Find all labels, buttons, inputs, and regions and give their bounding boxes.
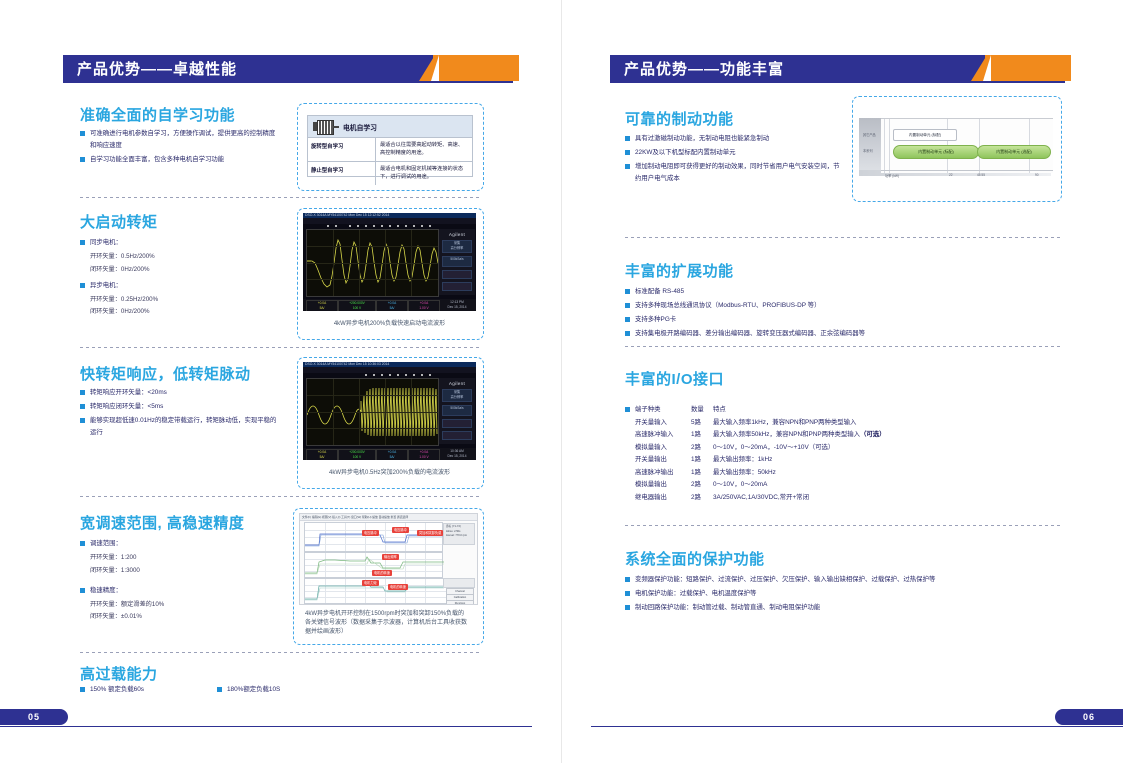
motor-icon [313, 120, 339, 133]
section-heading-start-torque: 大启动转矩 [80, 211, 158, 232]
io-row-feature: 3A/250VAC,1A/30VDC,常开+常闭 [713, 492, 809, 504]
right-page-banner: 产品优势——功能丰富 [610, 55, 1065, 81]
banner-orange-slant [985, 55, 1071, 81]
table-row: 开关量输出 1路 最大输出频率：1kHz [635, 454, 965, 466]
motor-self-learning-table: 电机自学习 旋转型自学习 最适合以往需要高起动转矩、高速、高控制精度的用途。 静… [307, 115, 473, 177]
io-row-qty: 1路 [691, 454, 713, 466]
annotation-tag: 输出频率 [382, 554, 399, 560]
bullets-start-torque: 同步电机： 开环矢量：0.5Hz/200% 闭环矢量：0Hz/200% 异步电机… [80, 237, 280, 319]
brake-bar-optional: 内置制动单元 (选配) [977, 145, 1051, 159]
section-separator [80, 347, 482, 348]
page-number-value: 05 [28, 712, 40, 722]
io-row-feature-bold: （可选） [860, 429, 886, 441]
section-heading-braking: 可靠的制动功能 [625, 108, 734, 129]
io-row-feature: 最大输入频率1kHz，兼容NPN和PNP两种类型输入 [713, 417, 856, 429]
io-row-qty: 2路 [691, 442, 713, 454]
sub-line: 闭环矢量：±0.01% [90, 611, 280, 622]
io-header-qty: 数量 [691, 404, 713, 416]
bullet-square-icon [80, 240, 85, 245]
table-row: 旋转型自学习 最适合以往需要高起动转矩、高速、高控制精度的用途。 [308, 138, 472, 162]
agilent-brand-label: Agilent [439, 229, 475, 237]
scope-waveform-grid [306, 229, 439, 297]
chart-cursor-info: 游标 (Y1-Y2) Δtime: 2.50s ΔLevel: 770.0 rp… [443, 523, 475, 545]
io-row-type: 开关量输出 [635, 454, 691, 466]
section-separator [625, 525, 1060, 526]
list-item: 支持多种PG卡 [625, 314, 955, 326]
sub-line: 闭环矢量：1:3000 [90, 565, 280, 576]
bullets-protection: 变频器保护功能：短路保护、过流保护、过压保护、欠压保护、输入输出缺相保护、过载保… [625, 574, 1055, 616]
io-row-qty: 1路 [691, 467, 713, 479]
bullet-square-icon [625, 605, 630, 610]
left-footer-line [0, 726, 532, 728]
bullets-expansion: 标准配备 RS-485 支持多种现场总线通讯协议（Modbus-RTU、PROF… [625, 286, 955, 342]
io-row-qty: 5路 [691, 417, 713, 429]
left-label-series: 本系列 [863, 148, 873, 153]
annotation-tag: 电机的转速 [372, 570, 392, 576]
list-item: 同步电机： [80, 237, 280, 249]
io-row-qty: 2路 [691, 479, 713, 491]
page-number-right: 06 [1055, 709, 1123, 725]
left-label-other: 其它产品 [863, 132, 876, 137]
figure-caption-3: 4kW异步电机开环控制在1500rpm时突加和突卸150%负载的各关键信号波形（… [293, 610, 482, 637]
bullets-speed-range: 调速范围： 开环矢量：1:200 闭环矢量：1:3000 稳速精度： 开环矢量：… [80, 538, 280, 624]
list-item: 转矩响应闭环矢量：<5ms [80, 401, 280, 413]
list-item: 转矩响应开环矢量：<20ms [80, 387, 280, 399]
row-desc: 最适合以往需要高起动转矩、高速、高控制精度的用途。 [376, 138, 472, 161]
motor-table-header: 电机自学习 [308, 116, 472, 138]
io-row-qty: 2路 [691, 492, 713, 504]
page-left: 产品优势——卓越性能 准确全面的自学习功能 可准确进行电机参数自学习，方便操作调… [0, 0, 562, 763]
chart-panel-1 [304, 522, 443, 552]
scope-waveform-grid [306, 378, 439, 446]
list-item: 180%额定负载10S [217, 684, 347, 696]
bullet-square-icon [80, 390, 85, 395]
bullet-square-icon [625, 303, 630, 308]
brake-bar-other: 内置制动单元 (标配) [893, 129, 957, 141]
right-banner-underline [610, 81, 1065, 83]
list-item: 支持多种现场总线通讯协议（Modbus-RTU、PROFIBUS-DP 等） [625, 300, 955, 312]
bullet-square-icon [625, 289, 630, 294]
list-item: 调速范围： [80, 538, 280, 550]
chart-legend-box [443, 578, 475, 588]
bullet-square-icon [625, 331, 630, 336]
section-heading-overload: 高过载能力 [80, 663, 158, 684]
bullet-square-icon [625, 317, 630, 322]
section-separator [80, 197, 482, 198]
brake-unit-diagram: 内置制动单元 (标配) 内置制动单元 (标配) 内置制动单元 (选配) 其它产品… [859, 118, 1053, 183]
section-separator [80, 652, 482, 653]
motor-table-title: 电机自学习 [343, 122, 377, 132]
banner-orange-slant [433, 55, 519, 81]
oscilloscope-image-1: DSO-X 3014A MY54100742 Mon Dec 15 12:12:… [303, 213, 476, 311]
io-row-type: 开关量输入 [635, 417, 691, 429]
io-rows: 开关量输入 5路 最大输入频率1kHz，兼容NPN和PNP两种类型输入 高速脉冲… [635, 417, 965, 504]
left-page-banner: 产品优势——卓越性能 [63, 55, 513, 81]
io-table-header-row: 端子种类 数量 特点 [625, 404, 965, 416]
section-heading-self-learning: 准确全面的自学习功能 [80, 104, 235, 125]
table-row: 静止型自学习 最适合电机和固定机械等连接的状态下，进行调试的用途。 [308, 162, 472, 185]
table-row: 开关量输入 5路 最大输入频率1kHz，兼容NPN和PNP两种类型输入 [635, 417, 965, 429]
bullet-square-icon [80, 404, 85, 409]
axis-tick-4555: 45 55 [977, 173, 985, 177]
diagram-axis [881, 170, 1053, 171]
annotation-tag: 突加和突卸负载 [417, 530, 443, 536]
list-item: 异步电机： [80, 280, 280, 292]
signal-analysis-chart: 文件(F) 编辑(E) 视图(V) 插入(I) 工具(T) 窗口(W) 帮助(H… [299, 513, 478, 605]
list-item: 22KW及以下机型标配内置制动单元 [625, 147, 840, 159]
section-heading-torque-response: 快转矩响应，低转矩脉动 [80, 363, 251, 384]
annotation-tag: 电压脉冲 [362, 530, 379, 536]
io-header-type: 端子种类 [635, 404, 691, 416]
list-item: 标准配备 RS-485 [625, 286, 955, 298]
scope-side-panel-1: Agilent 采集高分辨率 500kSa/s [439, 229, 475, 295]
bullets-overload-b: 180%额定负载10S [217, 684, 347, 698]
page-right: 产品优势——功能丰富 可靠的制动功能 具有过激磁制动功能，无制动电阻也能紧急制动… [562, 0, 1123, 763]
list-item: 变频器保护功能：短路保护、过流保护、过压保护、欠压保护、输入输出缺相保护、过载保… [625, 574, 1055, 586]
section-separator [80, 496, 482, 497]
io-row-type: 模拟量输出 [635, 479, 691, 491]
sub-line: 开环矢量：额定滑差的10% [90, 599, 280, 610]
io-row-feature: 0～10V，0～20mA，-10V～+10V（可选） [713, 442, 834, 454]
sub-line: 开环矢量：0.25Hz/200% [90, 294, 280, 305]
section-heading-protection: 系统全面的保护功能 [625, 548, 765, 569]
page-number-value: 06 [1083, 712, 1095, 722]
io-row-type: 继电器输出 [635, 492, 691, 504]
trigger-markers [303, 225, 476, 228]
annotation-tag: 电压脉冲 [392, 527, 409, 533]
diagram-left-labels: 其它产品 本系列 [861, 132, 881, 168]
bullet-square-icon [217, 687, 222, 692]
section-separator [625, 346, 1060, 347]
io-row-type: 高速脉冲输出 [635, 467, 691, 479]
bullet-square-icon [80, 283, 85, 288]
row-name: 旋转型自学习 [308, 138, 376, 161]
list-item: 稳速精度： [80, 585, 280, 597]
io-row-feature: 最大输出频率：50kHz [713, 467, 776, 479]
sub-line: 闭环矢量：0Hz/200% [90, 264, 280, 275]
chart-button-runstop[interactable]: Run/stop [446, 600, 474, 605]
io-header-feature: 特点 [713, 404, 726, 416]
bullet-square-icon [625, 577, 630, 582]
agilent-brand-label: Agilent [439, 378, 475, 386]
axis-tick-22: 22 [949, 173, 953, 177]
sub-line: 开环矢量：1:200 [90, 552, 280, 563]
io-row-type: 模拟量输入 [635, 442, 691, 454]
sub-line: 开环矢量：0.5Hz/200% [90, 251, 280, 262]
table-row: 高速脉冲输入 1路 最大输入频率50kHz，兼容NPN和PNP两种类型输入 （可… [635, 429, 965, 441]
bullets-overload-a: 150% 额定负载60s [80, 684, 210, 698]
table-row: 继电器输出 2路 3A/250VAC,1A/30VDC,常开+常闭 [635, 492, 965, 504]
panel-1-traces [305, 523, 444, 550]
io-row-feature: 最大输入频率50kHz，兼容NPN和PNP两种类型输入 [713, 429, 860, 441]
section-heading-expansion: 丰富的扩展功能 [625, 260, 734, 281]
io-row-qty: 1路 [691, 429, 713, 441]
diagram-stage: 内置制动单元 (标配) 内置制动单元 (标配) 内置制动单元 (选配) [881, 118, 1053, 173]
figure-caption-2: 4kW异步电机0.5Hz突加200%负载的电流波形 [297, 469, 482, 478]
list-item: 150% 额定负载60s [80, 684, 210, 696]
list-item: 制动回路保护功能：制动管过载、制动管直通、制动电阻保护功能 [625, 602, 1055, 614]
annotation-tag: 电机的转速 [388, 584, 408, 590]
figure-caption-1: 4kW异步电机200%负载快速启动电流波形 [297, 320, 482, 329]
page-number-left: 05 [0, 709, 68, 725]
sub-line: 闭环矢量：0Hz/200% [90, 306, 280, 317]
right-footer-line [591, 726, 1123, 728]
scope-channel-bar-1: +0.0A5A/ +200.000V100 V +0.0A5A/ +0.0A1.… [303, 299, 476, 311]
row-desc: 最适合电机和固定机械等连接的状态下，进行调试的用途。 [376, 162, 472, 185]
bullet-square-icon [80, 541, 85, 546]
brake-bar-standard: 内置制动单元 (标配) [893, 145, 979, 159]
section-heading-speed-range: 宽调速范围, 高稳速精度 [80, 512, 244, 533]
left-banner-underline [63, 81, 513, 83]
brochure-spread: 产品优势——卓越性能 准确全面的自学习功能 可准确进行电机参数自学习，方便操作调… [0, 0, 1123, 763]
bullet-square-icon [80, 131, 85, 136]
bullet-square-icon [625, 136, 630, 141]
section-heading-io: 丰富的I/O接口 [625, 368, 724, 389]
chart-toolbar-text: 文件(F) 编辑(E) 视图(V) 插入(I) 工具(T) 窗口(W) 帮助(H… [300, 514, 477, 520]
bullet-square-icon [625, 407, 630, 412]
list-item: 可准确进行电机参数自学习，方便操作调试，提供更高的控制精度和响应速度 [80, 128, 280, 151]
right-banner-title: 产品优势——功能丰富 [610, 58, 798, 79]
io-row-feature: 0～10V，0～20mA [713, 479, 767, 491]
trigger-markers [303, 374, 476, 377]
annotation-tag: 电机力矩 [362, 580, 379, 586]
bullets-torque-response: 转矩响应开环矢量：<20ms 转矩响应闭环矢量：<5ms 能够实现超低速0.01… [80, 387, 280, 441]
bullet-square-icon [625, 164, 630, 169]
bullet-square-icon [80, 157, 85, 162]
io-row-feature: 最大输出频率：1kHz [713, 454, 772, 466]
list-item: 支持集电极开路编码器、差分输出编码器、旋转变压器式编码器、正余弦编码器等 [625, 328, 955, 340]
list-item: 电机保护功能：过载保护、电机温度保护等 [625, 588, 1055, 600]
list-item: 自学习功能全面丰富，包含多种电机自学习功能 [80, 154, 280, 166]
scope-channel-bar-2: +0.0A5A/ +200.000V100 V +0.0A5A/ +0.0A1.… [303, 448, 476, 460]
table-row: 高速脉冲输出 1路 最大输出频率：50kHz [635, 467, 965, 479]
bullet-square-icon [80, 588, 85, 593]
list-item: 能够实现超低速0.01Hz的稳定带载运行，转矩脉动低，实现平稳的运行 [80, 415, 280, 438]
bullet-square-icon [625, 591, 630, 596]
bullet-square-icon [80, 687, 85, 692]
list-item: 具有过激磁制动功能，无制动电阻也能紧急制动 [625, 133, 840, 145]
row-name: 静止型自学习 [308, 162, 376, 185]
axis-label-power: 功率 (kW) [885, 173, 899, 178]
table-row: 模拟量输出 2路 0～10V，0～20mA [635, 479, 965, 491]
bullets-braking: 具有过激磁制动功能，无制动电阻也能紧急制动 22KW及以下机型标配内置制动单元 … [625, 133, 840, 187]
bullet-square-icon [80, 418, 85, 423]
bullets-self-learning: 可准确进行电机参数自学习，方便操作调试，提供更高的控制精度和响应速度 自学习功能… [80, 128, 280, 168]
bullet-square-icon [625, 150, 630, 155]
oscilloscope-image-2: DSO-X 3014A MY54100742 Mon Dec 15 10:36:… [303, 362, 476, 460]
section-separator [625, 237, 1060, 238]
io-table: 端子种类 数量 特点 开关量输入 5路 最大输入频率1kHz，兼容NPN和PNP… [625, 404, 965, 504]
io-row-type: 高速脉冲输入 [635, 429, 691, 441]
axis-tick-90: 90 [1035, 173, 1039, 177]
scope-side-panel-2: Agilent 采集高分辨率 500kSa/s [439, 378, 475, 444]
table-row: 模拟量输入 2路 0～10V，0～20mA，-10V～+10V（可选） [635, 442, 965, 454]
list-item: 增加制动电阻即可获得更好的制动效果，同时节省用户电气安装空间，节约用户电气成本 [625, 161, 840, 184]
left-banner-title: 产品优势——卓越性能 [63, 58, 251, 79]
